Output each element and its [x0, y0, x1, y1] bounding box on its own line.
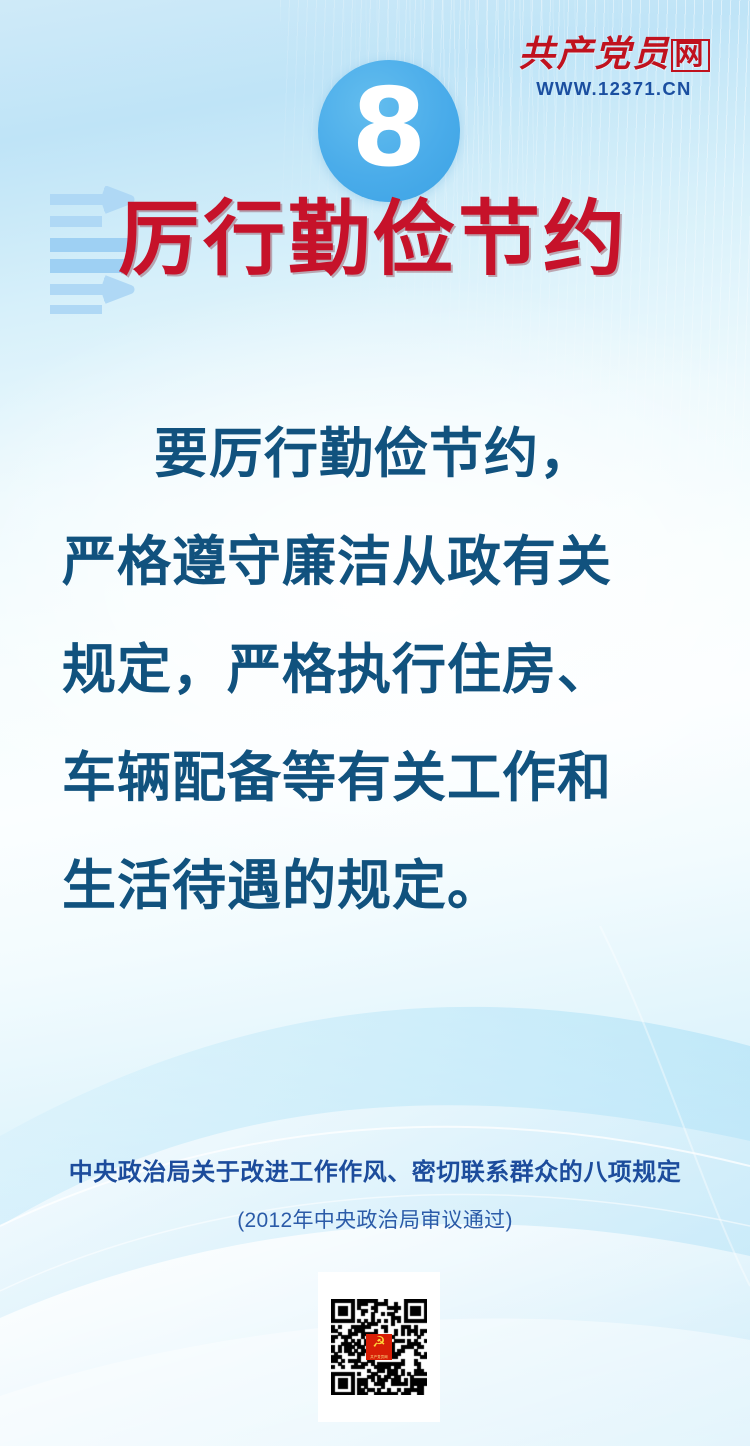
qr-code[interactable]: ☭ 共产党员网	[318, 1272, 440, 1422]
body-paragraph: 要厉行勤俭节约， 严格遵守廉洁从政有关 规定，严格执行住房、 车辆配备等有关工作…	[0, 400, 750, 940]
rule-number: 8	[318, 75, 460, 183]
rule-number-badge: 8	[318, 60, 460, 202]
site-logo-url: WWW.12371.CN	[506, 78, 722, 100]
party-emblem-caption: 共产党员网	[366, 1356, 392, 1359]
party-emblem-icon: ☭ 共产党员网	[366, 1334, 392, 1360]
site-logo[interactable]: 共产党员网 WWW.12371.CN	[506, 36, 722, 100]
body-line: 车辆配备等有关工作和	[62, 724, 688, 832]
headline-title: 厉行勤俭节约	[118, 196, 628, 285]
body-line: 严格遵守廉洁从政有关	[62, 508, 688, 616]
body-line: 规定，严格执行住房、	[62, 616, 688, 724]
poster-canvas: 共产党员网 WWW.12371.CN 8 厉行勤俭节约 要厉行勤俭节约， 严格遵…	[0, 0, 750, 1446]
body-line: 要厉行勤俭节约，	[62, 400, 688, 508]
site-logo-chinese: 共产党员网	[506, 36, 722, 74]
site-logo-chinese-text: 共产党员	[518, 34, 670, 74]
footer-regulation-title: 中央政治局关于改进工作作风、密切联系群众的八项规定	[0, 1152, 750, 1187]
body-line: 生活待遇的规定。	[62, 832, 688, 940]
site-logo-boxed-char: 网	[671, 39, 710, 72]
footer-regulation-note: (2012年中央政治局审议通过)	[0, 1204, 750, 1234]
party-emblem-symbol: ☭	[372, 1335, 385, 1350]
